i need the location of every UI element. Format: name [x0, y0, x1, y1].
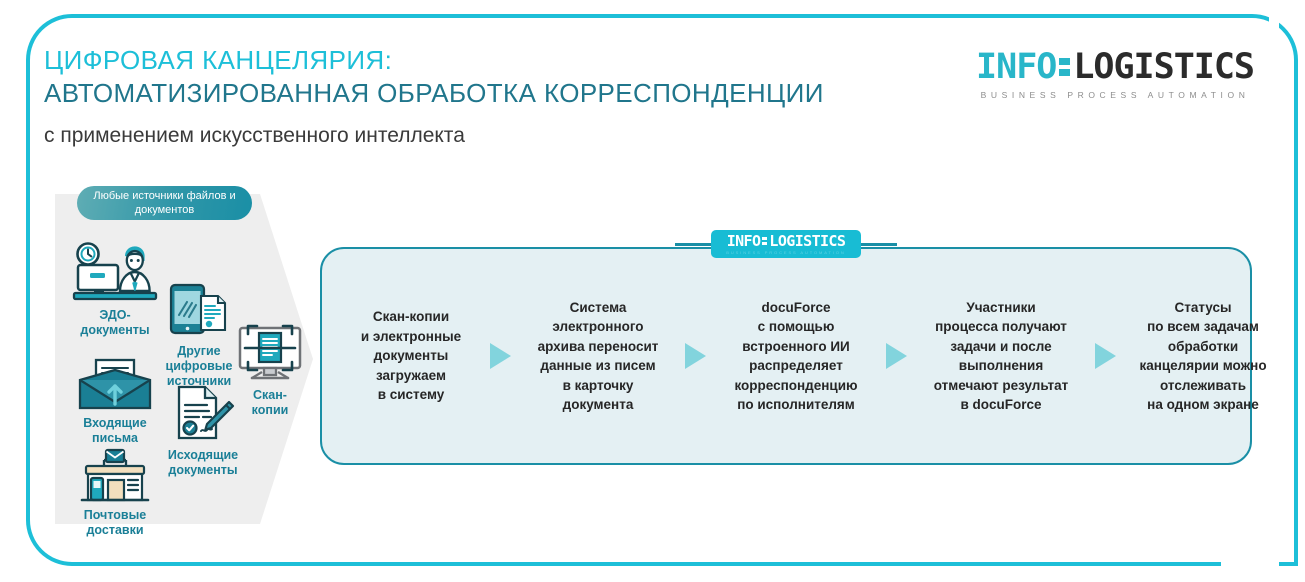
page-subtitle: с применением искусственного интеллекта [44, 122, 1254, 150]
source-item-edo: ЭДО- документы [69, 242, 161, 338]
source-item-label: Исходящие документы [153, 448, 253, 478]
source-item-label: Входящие письма [69, 416, 161, 446]
source-item-incoming: Входящие письма [69, 358, 161, 446]
brand-logo: INFO LOGISTICS BUSINESS PROCESS AUTOMATI… [976, 48, 1254, 100]
page-header: ЦИФРОВАЯ КАНЦЕЛЯРИЯ: АВТОМАТИЗИРОВАННАЯ … [44, 44, 1254, 154]
frame-mask-right [1269, 14, 1279, 66]
brand-logo-part1: INFO [976, 48, 1056, 86]
frame-mask-bottom [1221, 558, 1279, 568]
process-step-1: Скан-копии и электронные документы загру… [336, 307, 486, 405]
monitor-scan-document-icon [234, 322, 306, 384]
triangle-right-icon [886, 343, 907, 369]
source-item-postal: Почтовые доставки [69, 448, 161, 538]
document-pen-signature-icon [171, 384, 235, 444]
brand-logo-wordmark: INFO LOGISTICS [976, 48, 1254, 86]
tablet-document-icon [168, 282, 230, 340]
colon-icon [1059, 58, 1070, 76]
flow-badge-part1: INFO [727, 233, 761, 249]
triangle-right-icon [490, 343, 511, 369]
flow-badge-part2: LOGISTICS [769, 233, 845, 249]
sources-panel: Любые источники файлов и документов ЭДО-… [55, 194, 313, 524]
brand-logo-tagline: BUSINESS PROCESS AUTOMATION [976, 90, 1254, 100]
open-envelope-letter-icon [78, 358, 152, 412]
flow-badge-rule-left [675, 243, 713, 246]
brand-logo-part2: LOGISTICS [1073, 48, 1254, 86]
flow-badge-rule-right [859, 243, 897, 246]
triangle-right-icon [685, 343, 706, 369]
sources-panel-badge: Любые источники файлов и документов [77, 186, 252, 220]
process-step-2: Система электронного архива переносит да… [515, 298, 681, 415]
process-step-3: docuForce с помощью встроенного ИИ распр… [710, 298, 882, 415]
post-office-building-icon [78, 448, 152, 504]
flow-badge-wordmark: INFO LOGISTICS [727, 233, 846, 249]
colon-icon [762, 237, 767, 245]
source-item-label: Почтовые доставки [69, 508, 161, 538]
source-item-label: ЭДО- документы [69, 308, 161, 338]
triangle-right-icon [1095, 343, 1116, 369]
process-step-4: Участники процесса получают задачи и пос… [911, 298, 1091, 415]
process-steps-list: Скан-копии и электронные документы загру… [322, 249, 1250, 463]
source-item-scan: Скан- копии [227, 322, 313, 418]
source-item-label: Скан- копии [227, 388, 313, 418]
process-step-5: Статусы по всем задачам обработки канцел… [1120, 298, 1286, 415]
operator-desk-clock-icon [72, 242, 158, 304]
